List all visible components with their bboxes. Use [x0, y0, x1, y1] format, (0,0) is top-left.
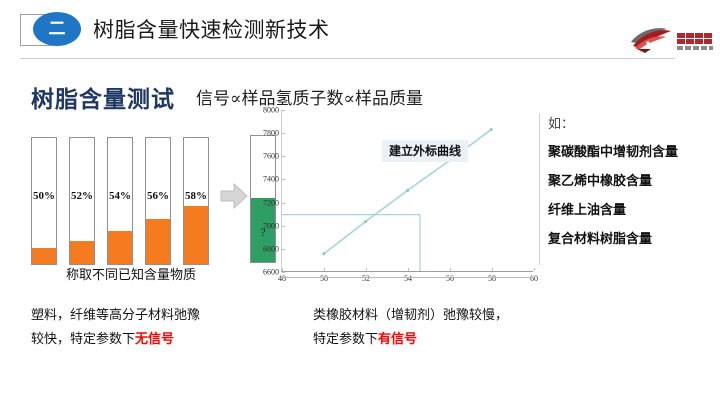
x-axis-tick — [366, 268, 367, 271]
x-axis-tick — [534, 268, 535, 271]
x-axis-tick-label: 60 — [530, 274, 538, 283]
x-axis-tick-label: 50 — [320, 274, 328, 283]
sample-tube-label: 58% — [184, 190, 208, 202]
y-axis-tick — [282, 249, 285, 250]
y-axis-tick-label: 7600 — [263, 152, 279, 161]
calibration-curve-chart: 6600680070007200740076007800800048505254… — [281, 110, 533, 272]
sample-tube: 56% — [145, 137, 171, 265]
section-number-badge: 二 — [33, 12, 81, 46]
sample-tube: 54% — [107, 137, 133, 265]
header-divider — [20, 58, 675, 59]
x-axis-tick-label: 54 — [404, 274, 412, 283]
x-axis-tick — [408, 268, 409, 271]
list-item: 复合材料树脂含量 — [548, 228, 713, 247]
data-point-marker — [364, 220, 367, 223]
examples-intro: 如： — [548, 113, 713, 132]
y-axis-tick — [282, 272, 285, 273]
section-heading: 树脂含量测试 — [31, 80, 175, 114]
note-right-highlight: 有信号 — [378, 331, 417, 346]
company-logo — [629, 22, 715, 54]
sample-tube-label: 56% — [146, 190, 170, 202]
y-axis-tick — [282, 203, 285, 204]
y-axis-tick-label: 7800 — [263, 129, 279, 138]
sample-tube-fill — [146, 219, 170, 264]
x-axis-tick-label: 58 — [488, 274, 496, 283]
x-axis-tick — [282, 268, 283, 271]
note-left-line1: 塑料，纤维等高分子材料弛豫 — [31, 303, 200, 327]
y-axis-tick-label: 8000 — [263, 106, 279, 115]
arrow-right-icon — [219, 181, 249, 211]
y-axis-tick-label: 7000 — [263, 221, 279, 230]
x-axis-tick — [324, 268, 325, 271]
note-right-prefix: 特定参数下 — [313, 331, 378, 346]
examples-list: 如： 聚碳酸酯中增韧剂含量 聚乙烯中橡胶含量 纤维上油含量 复合材料树脂含量 — [548, 113, 713, 257]
chart-bottom-rule — [281, 277, 533, 278]
y-axis-tick-label: 6800 — [263, 244, 279, 253]
list-item: 聚碳酸酯中增韧剂含量 — [548, 141, 713, 160]
data-point-marker — [490, 128, 493, 131]
note-left: 塑料，纤维等高分子材料弛豫 较快，特定参数下无信号 — [31, 303, 200, 351]
note-left-prefix: 较快，特定参数下 — [31, 331, 135, 346]
data-point-marker — [406, 189, 409, 192]
chart-title-label: 建立外标曲线 — [382, 140, 468, 162]
list-item: 聚乙烯中橡胶含量 — [548, 170, 713, 189]
sample-tube: 52% — [69, 137, 95, 265]
sample-tube-fill — [108, 231, 132, 264]
x-axis-tick-label: 48 — [278, 274, 286, 283]
sample-tube-fill — [32, 248, 56, 264]
note-left-highlight: 无信号 — [135, 331, 174, 346]
note-right-line1: 类橡胶材料（增韧剂）弛豫较慢， — [313, 303, 508, 327]
x-axis-tick — [450, 268, 451, 271]
note-left-line2: 较快，特定参数下无信号 — [31, 327, 200, 351]
y-axis-tick-label: 7200 — [263, 198, 279, 207]
y-axis-tick — [282, 156, 285, 157]
sample-tube-label: 54% — [108, 190, 132, 202]
tubes-caption: 称取不同已知含量物质 — [31, 264, 231, 283]
page-title: 树脂含量快速检测新技术 — [93, 14, 330, 44]
list-item: 纤维上油含量 — [548, 199, 713, 218]
data-point-marker — [322, 252, 325, 255]
slide-root: 二 树脂含量快速检测新技术 树脂含量测试 信号∝样品氢质子数∝样品质量 — [0, 0, 720, 405]
y-axis-tick — [282, 226, 285, 227]
sample-tube-label: 50% — [32, 190, 56, 202]
note-right: 类橡胶材料（增韧剂）弛豫较慢， 特定参数下有信号 — [313, 303, 508, 351]
formula-text: 信号∝样品氢质子数∝样品质量 — [196, 84, 423, 109]
y-axis-tick-label: 6600 — [263, 268, 279, 277]
x-axis-tick — [492, 268, 493, 271]
logo-mark-icon — [629, 22, 715, 54]
section-number-label: 二 — [33, 12, 81, 46]
y-axis-tick-label: 7400 — [263, 175, 279, 184]
sample-tube-fill — [70, 241, 94, 264]
known-samples-group: 50%52%54%56%58% — [31, 135, 221, 265]
x-axis-tick-label: 52 — [362, 274, 370, 283]
y-axis-tick — [282, 110, 285, 111]
note-right-line2: 特定参数下有信号 — [313, 327, 508, 351]
examples-divider — [539, 113, 540, 265]
x-axis-tick-label: 56 — [446, 274, 454, 283]
y-axis-tick — [282, 133, 285, 134]
sample-tube: 50% — [31, 137, 57, 265]
chart-plot-area — [282, 110, 533, 271]
sample-tube-label: 52% — [70, 190, 94, 202]
sample-tube: 58% — [183, 137, 209, 265]
sample-tube-fill — [184, 206, 208, 264]
y-axis-tick — [282, 179, 285, 180]
